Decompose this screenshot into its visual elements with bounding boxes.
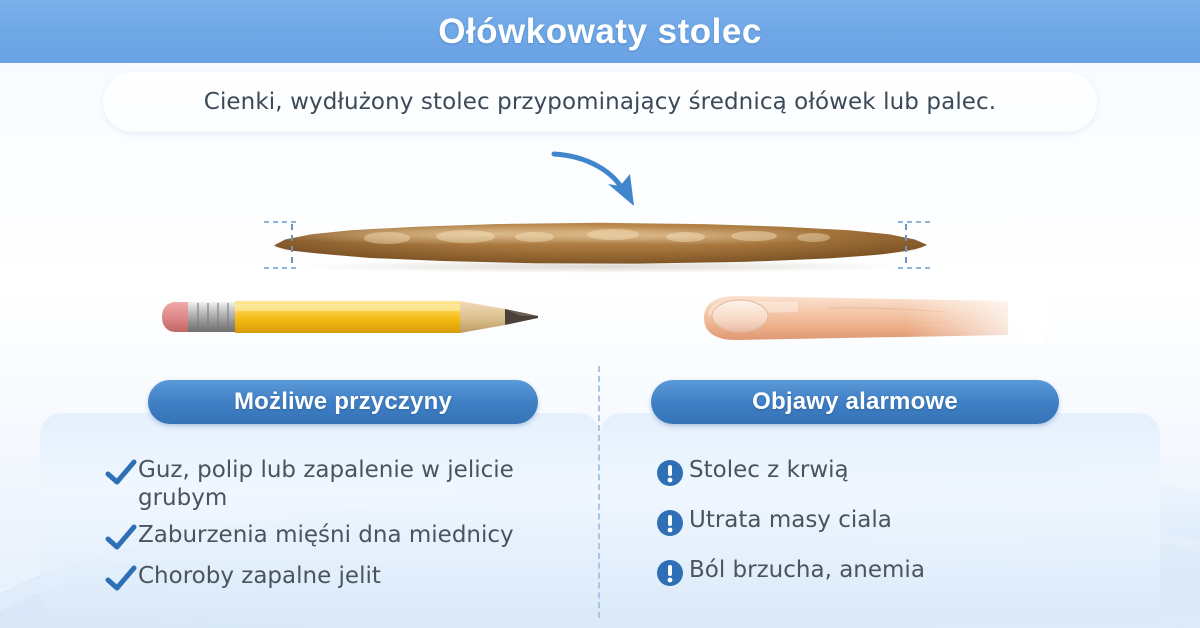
- alarm-panel-title: Objawy alarmowe: [752, 388, 958, 416]
- subtitle-card: Cienki, wydłużony stolec przypominający …: [103, 72, 1097, 132]
- list-item: Choroby zapalne jelit: [104, 562, 574, 594]
- yellow-pencil-illustration: [160, 296, 542, 338]
- list-item-label: Guz, polip lub zapalenie w jelicie gruby…: [138, 456, 574, 512]
- page-title: Ołówkowaty stolec: [438, 12, 762, 52]
- alarm-panel-header: Objawy alarmowe: [651, 380, 1059, 424]
- list-item-label: Zaburzenia mięśni dna miednicy: [138, 521, 514, 549]
- stool-shape: [272, 221, 928, 265]
- curved-down-arrow-icon: [548, 142, 668, 210]
- list-item: Guz, polip lub zapalenie w jelicie gruby…: [104, 456, 574, 512]
- dashed-measure-bracket-icon: [262, 216, 302, 274]
- exclamation-circle-icon: [655, 508, 689, 538]
- list-item: Ból brzucha, anemia: [655, 556, 1085, 588]
- panel-divider: [598, 366, 600, 618]
- infographic-canvas: Ołówkowaty stolec Cienki, wydłużony stol…: [0, 0, 1200, 628]
- causes-panel-header: Możliwe przyczyny: [148, 380, 538, 424]
- exclamation-circle-icon: [655, 458, 689, 488]
- list-item: Stolec z krwią: [655, 456, 1085, 488]
- causes-list: Guz, polip lub zapalenie w jelicie gruby…: [104, 456, 574, 603]
- exclamation-circle-icon: [655, 558, 689, 588]
- check-icon: [104, 523, 138, 553]
- list-item: Zaburzenia mięśni dna miednicy: [104, 521, 574, 553]
- list-item-label: Choroby zapalne jelit: [138, 562, 381, 590]
- alarm-list: Stolec z krwią Utrata masy ciala Ból brz…: [655, 456, 1085, 606]
- list-item-label: Stolec z krwią: [689, 456, 849, 484]
- causes-panel-title: Możliwe przyczyny: [234, 388, 452, 416]
- list-item-label: Ból brzucha, anemia: [689, 556, 925, 584]
- index-finger-illustration: [678, 292, 1046, 344]
- subtitle-text: Cienki, wydłużony stolec przypominający …: [204, 89, 996, 115]
- stool-illustration: [272, 208, 928, 278]
- list-item: Utrata masy ciala: [655, 506, 1085, 538]
- header-band: Ołówkowaty stolec: [0, 0, 1200, 63]
- check-icon: [104, 564, 138, 594]
- dashed-measure-bracket-icon: [896, 216, 936, 274]
- list-item-label: Utrata masy ciala: [689, 506, 892, 534]
- check-icon: [104, 458, 138, 488]
